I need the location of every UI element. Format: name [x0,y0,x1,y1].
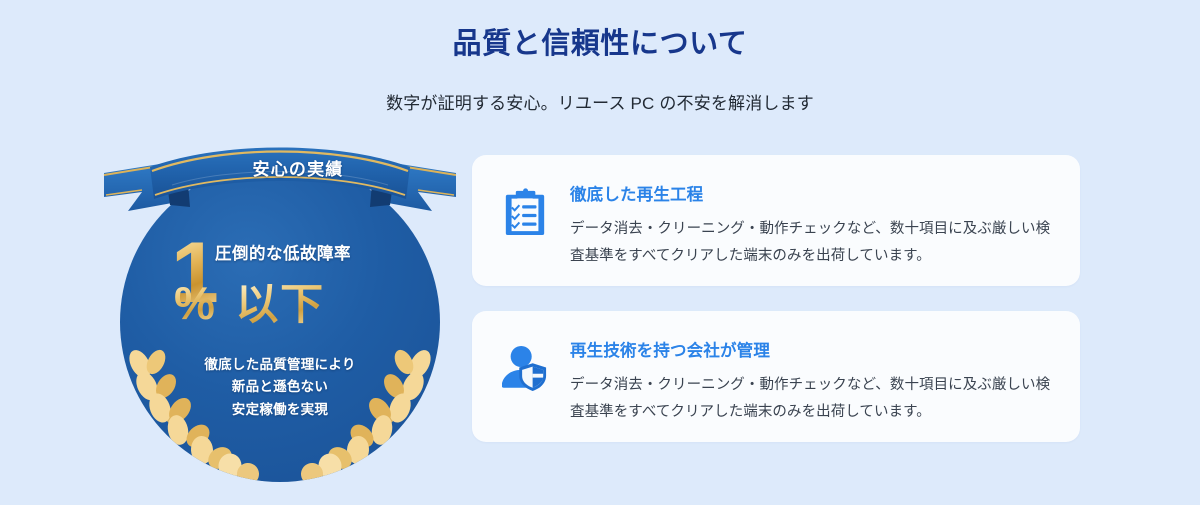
achievement-badge: 圧倒的な低故障率 1 % 以下 徹底した品質管理により 新品と遜色ない 安定稼働… [120,145,440,470]
feature-card-text: データ消去・クリーニング・動作チェックなど、数十項目に及ぶ厳しい検査基準をすべて… [570,372,1056,426]
feature-card-body: 再生技術を持つ会社が管理 データ消去・クリーニング・動作チェックなど、数十項目に… [564,337,1056,426]
badge-note-line-1: 徹底した品質管理により [160,354,400,376]
clipboard-check-icon [502,181,564,242]
badge-note-line-2: 新品と遜色ない [160,376,400,398]
feature-card: 徹底した再生工程 データ消去・クリーニング・動作チェックなど、数十項目に及ぶ厳し… [472,155,1080,286]
feature-card-body: 徹底した再生工程 データ消去・クリーニング・動作チェックなど、数十項目に及ぶ厳し… [564,181,1056,270]
badge-inner-content: 圧倒的な低故障率 1 % 以下 徹底した品質管理により 新品と遜色ない 安定稼働… [120,162,440,482]
feature-card: 再生技術を持つ会社が管理 データ消去・クリーニング・動作チェックなど、数十項目に… [472,311,1080,442]
badge-note: 徹底した品質管理により 新品と遜色ない 安定稼働を実現 [160,354,400,421]
feature-card-title: 再生技術を持つ会社が管理 [570,337,1056,361]
badge-percent-symbol: % [174,280,215,326]
badge-suffix: 以下 [235,284,324,327]
user-shield-icon [502,337,564,398]
feature-card-text: データ消去・クリーニング・動作チェックなど、数十項目に及ぶ厳しい検査基準をすべて… [570,216,1056,270]
badge-percent-row: % 以下 [174,280,440,327]
feature-card-title: 徹底した再生工程 [570,181,1056,205]
quality-reliability-section: 品質と信頼性について 数字が証明する安心。リユース PC の不安を解消します [0,0,1200,531]
badge-note-line-3: 安定稼働を実現 [160,399,400,421]
feature-card-list: 徹底した再生工程 データ消去・クリーニング・動作チェックなど、数十項目に及ぶ厳し… [472,155,1080,442]
ribbon-label: 安心の実績 [120,155,476,180]
section-content: 圧倒的な低故障率 1 % 以下 徹底した品質管理により 新品と遜色ない 安定稼働… [0,140,1200,470]
section-header: 品質と信頼性について 数字が証明する安心。リユース PC の不安を解消します [0,0,1200,114]
page-title: 品質と信頼性について [0,20,1200,62]
page-subtitle: 数字が証明する安心。リユース PC の不安を解消します [0,89,1200,114]
